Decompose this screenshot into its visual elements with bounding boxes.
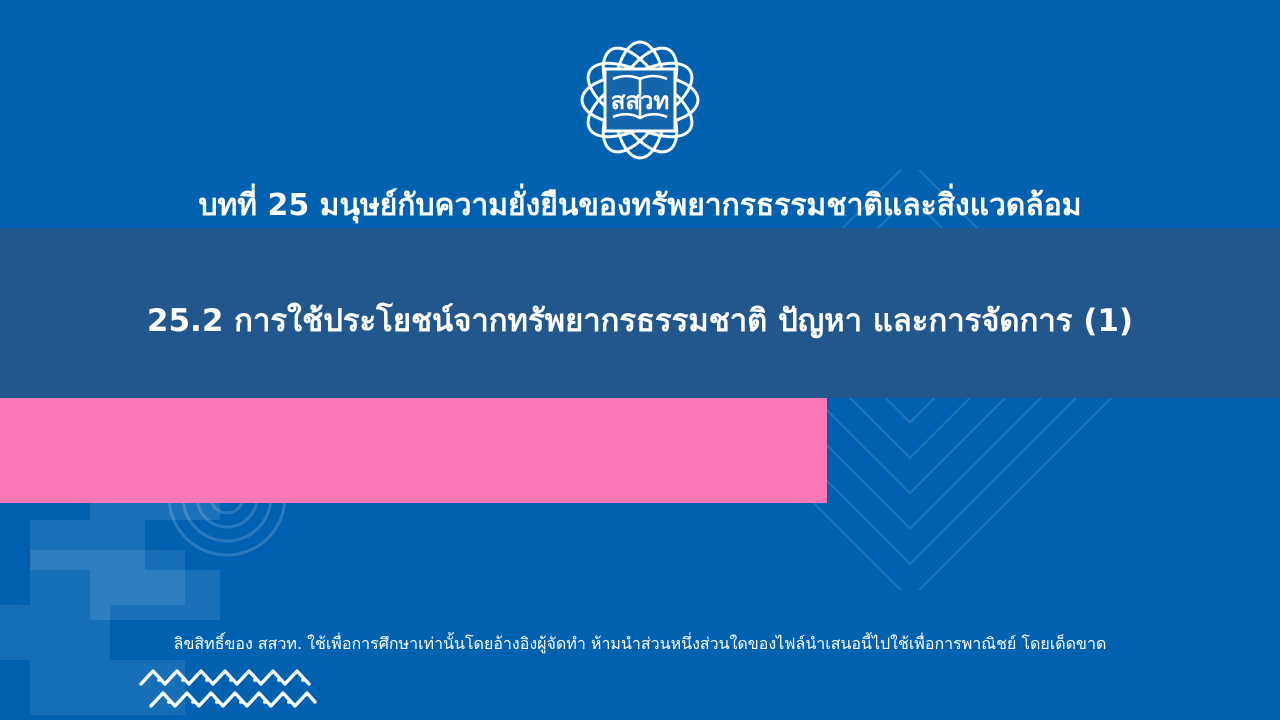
chapter-title: บทที่ 25 มนุษย์กับความยั่งยืนของทรัพยากร… xyxy=(0,186,1280,226)
presentation-slide: สสวท บทที่ 25 มนุษย์กับความยั่งยืนของทรั… xyxy=(0,0,1280,720)
zigzag-wave-pattern xyxy=(137,668,317,710)
accent-banner xyxy=(0,398,827,503)
logo-acronym: สสวท xyxy=(565,25,715,175)
section-title: 25.2 การใช้ประโยชน์จากทรัพยากรธรรมชาติ ป… xyxy=(0,300,1280,342)
copyright-footer: ลิขสิทธิ์ของ สสวท. ใช้เพื่อการศึกษาเท่าน… xyxy=(0,632,1280,656)
ipst-logo: สสวท xyxy=(565,25,715,175)
